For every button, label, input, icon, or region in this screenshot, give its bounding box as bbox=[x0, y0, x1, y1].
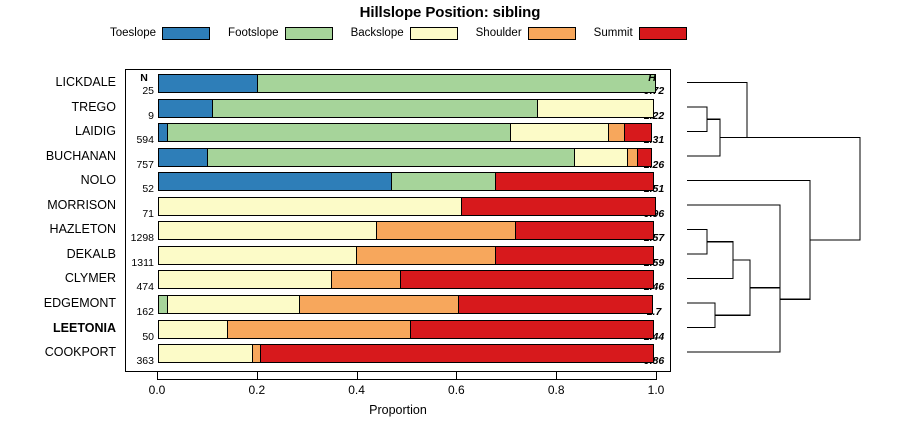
row-n-value: 757 bbox=[126, 159, 154, 171]
bar-segment-toeslope bbox=[158, 99, 213, 118]
row-n-value: 474 bbox=[126, 281, 154, 293]
bar-segment-shoulder bbox=[608, 123, 625, 142]
legend-item-footslope: Footslope bbox=[228, 27, 333, 40]
bar-segment-shoulder bbox=[227, 320, 412, 339]
legend-label: Footslope bbox=[228, 27, 279, 39]
y-label-dekalb: DEKALB bbox=[0, 247, 120, 261]
dendro-merge-hazleton-dekalb bbox=[687, 230, 707, 255]
legend-label: Shoulder bbox=[476, 27, 522, 39]
row-n-value: 25 bbox=[126, 85, 154, 97]
bar-segment-backslope bbox=[537, 99, 654, 118]
y-label-cookport: COOKPORT bbox=[0, 345, 120, 359]
bar-segment-backslope bbox=[158, 270, 333, 289]
dendro-root-merge bbox=[747, 138, 860, 240]
bar-segment-summit bbox=[260, 344, 654, 363]
x-tick bbox=[556, 372, 557, 380]
y-label-leetonia: LEETONIA bbox=[0, 321, 120, 335]
bar-segment-summit bbox=[515, 221, 655, 240]
x-tick-label: 0.0 bbox=[137, 383, 177, 397]
legend-item-summit: Summit bbox=[594, 27, 687, 40]
bar-segment-footslope bbox=[212, 99, 539, 118]
column-header-h: H bbox=[638, 72, 666, 84]
bar-segment-toeslope bbox=[158, 172, 393, 191]
x-tick-label: 0.8 bbox=[536, 383, 576, 397]
dendro-merge-hd-clymer bbox=[687, 242, 733, 279]
stacked-bar bbox=[158, 172, 657, 191]
dendro-merge-nolo-bottom bbox=[687, 181, 810, 300]
legend-item-shoulder: Shoulder bbox=[476, 27, 576, 40]
y-label-nolo: NOLO bbox=[0, 173, 120, 187]
x-tick-label: 0.6 bbox=[436, 383, 476, 397]
y-label-morrison: MORRISON bbox=[0, 198, 120, 212]
row-n-value: 1298 bbox=[126, 232, 154, 244]
stacked-bar bbox=[158, 148, 657, 167]
legend-swatch-footslope bbox=[285, 27, 333, 40]
row-n-value: 50 bbox=[126, 331, 154, 343]
bar-segment-backslope bbox=[167, 295, 300, 314]
legend-label: Summit bbox=[594, 27, 633, 39]
row-n-value: 363 bbox=[126, 355, 154, 367]
stacked-bar bbox=[158, 221, 657, 240]
bar-segment-summit bbox=[400, 270, 654, 289]
bar-segment-backslope bbox=[158, 221, 378, 240]
dendro-merge-edgemont-leetonia bbox=[687, 303, 715, 328]
stacked-bar bbox=[158, 295, 657, 314]
legend-item-toeslope: Toeslope bbox=[110, 27, 210, 40]
legend-swatch-shoulder bbox=[528, 27, 576, 40]
bar-segment-backslope bbox=[158, 246, 358, 265]
bar-segment-shoulder bbox=[331, 270, 401, 289]
x-tick bbox=[257, 372, 258, 380]
dendro-merge-trego-laidig bbox=[687, 107, 707, 132]
x-axis-title: Proportion bbox=[125, 403, 671, 417]
row-n-value: 162 bbox=[126, 306, 154, 318]
bar-segment-summit bbox=[461, 197, 656, 216]
legend: ToeslopeFootslopeBackslopeShoulderSummit bbox=[110, 24, 750, 42]
legend-swatch-summit bbox=[639, 27, 687, 40]
x-tick-label: 0.2 bbox=[237, 383, 277, 397]
stacked-bar bbox=[158, 123, 657, 142]
column-header-n: N bbox=[130, 72, 158, 84]
dendrogram-svg bbox=[675, 69, 900, 372]
bar-segment-summit bbox=[495, 246, 655, 265]
dendro-merge-lickdale-tlb bbox=[687, 83, 747, 138]
bar-segment-backslope bbox=[158, 197, 462, 216]
y-label-trego: TREGO bbox=[0, 100, 120, 114]
bar-segment-summit bbox=[624, 123, 651, 142]
page-title: Hillslope Position: sibling bbox=[0, 4, 900, 21]
row-n-value: 52 bbox=[126, 183, 154, 195]
plot-area: 250.7291.225941.317571.26521.51710.96129… bbox=[125, 69, 671, 372]
x-axis-line bbox=[157, 379, 656, 380]
bar-segment-shoulder bbox=[376, 221, 516, 240]
stacked-bar bbox=[158, 344, 657, 363]
bar-segment-summit bbox=[458, 295, 653, 314]
x-tick bbox=[157, 372, 158, 380]
bar-segment-summit bbox=[410, 320, 655, 339]
x-tick bbox=[656, 372, 657, 380]
row-n-value: 71 bbox=[126, 208, 154, 220]
y-label-lickdale: LICKDALE bbox=[0, 75, 120, 89]
y-label-edgemont: EDGEMONT bbox=[0, 296, 120, 310]
bar-segment-summit bbox=[495, 172, 655, 191]
legend-item-backslope: Backslope bbox=[351, 27, 458, 40]
stacked-bar bbox=[158, 320, 657, 339]
y-label-buchanan: BUCHANAN bbox=[0, 149, 120, 163]
bar-segment-footslope bbox=[207, 148, 575, 167]
dendro-merge-tl-buchanan bbox=[687, 119, 720, 156]
stacked-bar bbox=[158, 74, 657, 93]
stacked-bar bbox=[158, 270, 657, 289]
bar-segment-toeslope bbox=[158, 74, 258, 93]
stacked-bar bbox=[158, 99, 657, 118]
row-n-value: 594 bbox=[126, 134, 154, 146]
stacked-bar bbox=[158, 197, 657, 216]
y-label-clymer: CLYMER bbox=[0, 271, 120, 285]
x-tick bbox=[357, 372, 358, 380]
bar-segment-footslope bbox=[391, 172, 496, 191]
bar-segment-backslope bbox=[510, 123, 610, 142]
x-tick-label: 1.0 bbox=[636, 383, 676, 397]
y-axis-labels: LICKDALETREGOLAIDIGBUCHANANNOLOMORRISONH… bbox=[0, 69, 120, 372]
row-n-value: 9 bbox=[126, 110, 154, 122]
bar-segment-footslope bbox=[167, 123, 511, 142]
legend-label: Toeslope bbox=[110, 27, 156, 39]
row-n-value: 1311 bbox=[126, 257, 154, 269]
legend-swatch-backslope bbox=[410, 27, 458, 40]
dendrogram bbox=[675, 69, 900, 372]
legend-swatch-toeslope bbox=[162, 27, 210, 40]
bar-segment-summit bbox=[637, 148, 652, 167]
y-label-hazleton: HAZLETON bbox=[0, 222, 120, 236]
bar-segment-backslope bbox=[574, 148, 629, 167]
y-label-laidig: LAIDIG bbox=[0, 124, 120, 138]
legend-label: Backslope bbox=[351, 27, 404, 39]
bar-segment-shoulder bbox=[356, 246, 496, 265]
bar-segment-toeslope bbox=[158, 148, 208, 167]
stacked-bar bbox=[158, 246, 657, 265]
bar-segment-footslope bbox=[257, 74, 656, 93]
bar-segment-backslope bbox=[158, 320, 228, 339]
bar-segment-shoulder bbox=[299, 295, 460, 314]
x-tick bbox=[456, 372, 457, 380]
chart-root: Hillslope Position: sibling ToeslopeFoot… bbox=[0, 0, 900, 440]
x-tick-label: 0.4 bbox=[337, 383, 377, 397]
bar-segment-backslope bbox=[158, 344, 253, 363]
